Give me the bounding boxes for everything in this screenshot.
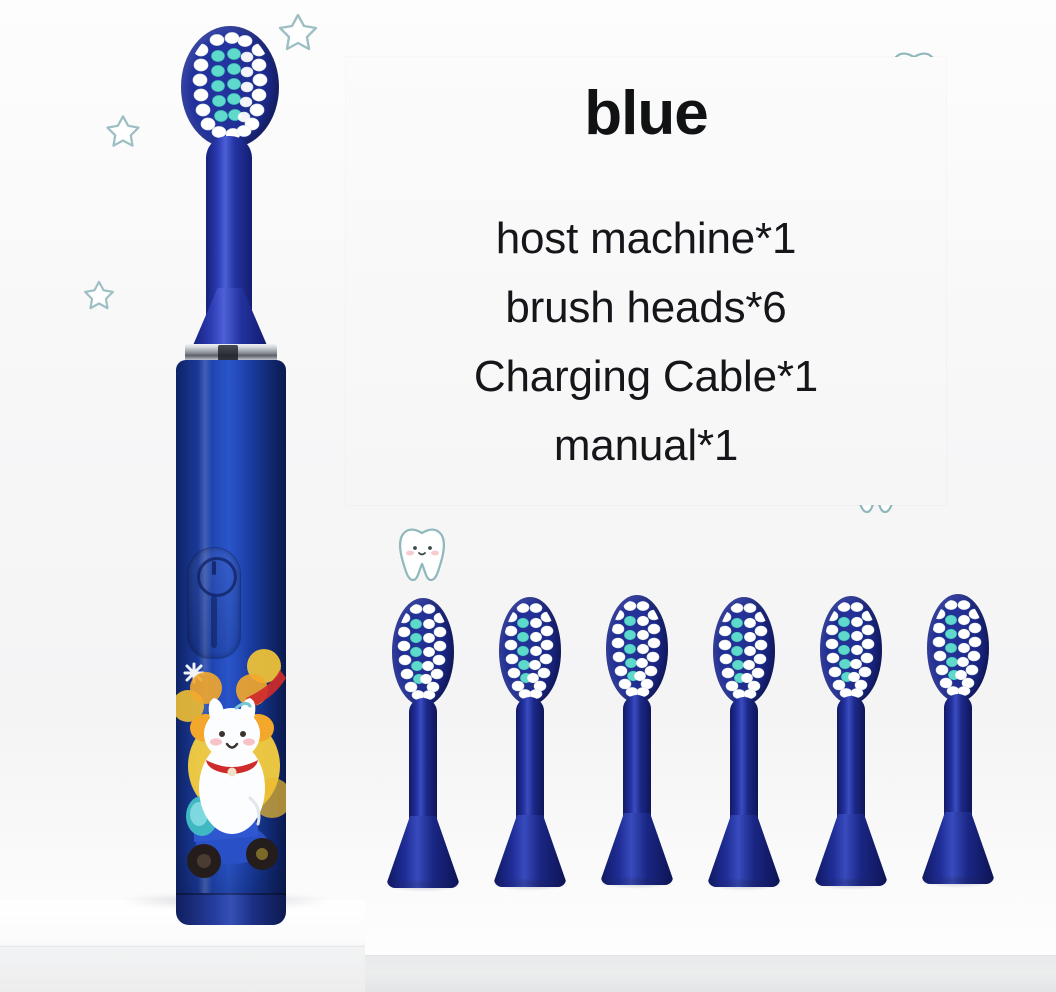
electric-toothbrush-handle (150, 8, 310, 933)
star-icon-left-upper (104, 112, 142, 150)
brush-head-base (494, 815, 566, 887)
brush-head-neck (944, 694, 972, 822)
replacement-brush-head (384, 598, 462, 898)
power-button-stem (211, 596, 217, 648)
brush-head-bristles (396, 602, 450, 702)
brush-head-neck (409, 698, 437, 826)
brush-head-base (387, 816, 459, 888)
brush-head-base (922, 812, 994, 884)
package-contents-item: brush heads*6 (346, 273, 946, 342)
brush-head-neck (837, 696, 865, 824)
package-contents-item: host machine*1 (346, 204, 946, 273)
brush-head-base (601, 813, 673, 885)
replacement-brush-head (491, 597, 569, 897)
brush-head-bristles (610, 599, 664, 699)
brush-head-bristles (824, 600, 878, 700)
brush-head-base (708, 815, 780, 887)
package-contents-item: manual*1 (346, 411, 946, 480)
brush-head-shadow (705, 879, 783, 891)
brush-head-bristles (717, 601, 771, 701)
package-contents-item: Charging Cable*1 (346, 342, 946, 411)
replacement-brush-head (919, 594, 997, 894)
tooth-icon-mid-left (392, 524, 452, 586)
handle-decal-cat-on-scooter (176, 648, 286, 918)
product-image-canvas: blue host machine*1 brush heads*6 Chargi… (0, 0, 1056, 992)
power-icon-bar (212, 561, 216, 575)
replacement-brush-head (598, 595, 676, 895)
brush-head-shadow (919, 876, 997, 888)
toothbrush-bristles (187, 30, 273, 142)
page-title: blue (346, 83, 946, 145)
brush-head-neck (516, 697, 544, 825)
toothbrush-neck-cone (191, 288, 269, 350)
brush-head-neck (623, 695, 651, 823)
brush-head-neck (730, 697, 758, 825)
replacement-brush-head (812, 596, 890, 896)
brush-head-shadow (491, 879, 569, 891)
package-contents-list: host machine*1 brush heads*6 Charging Ca… (346, 204, 946, 480)
star-icon-left-lower (82, 278, 116, 312)
brush-head-base (815, 814, 887, 886)
toothbrush-base-cap (176, 893, 286, 925)
brush-head-shadow (812, 878, 890, 890)
power-button[interactable] (188, 548, 240, 658)
power-icon-ring (197, 557, 237, 597)
brush-head-shadow (598, 877, 676, 889)
brush-head-bristles (931, 598, 985, 698)
replacement-brush-head (705, 597, 783, 897)
brush-head-bristles (503, 601, 557, 701)
brush-head-shadow (384, 880, 462, 892)
